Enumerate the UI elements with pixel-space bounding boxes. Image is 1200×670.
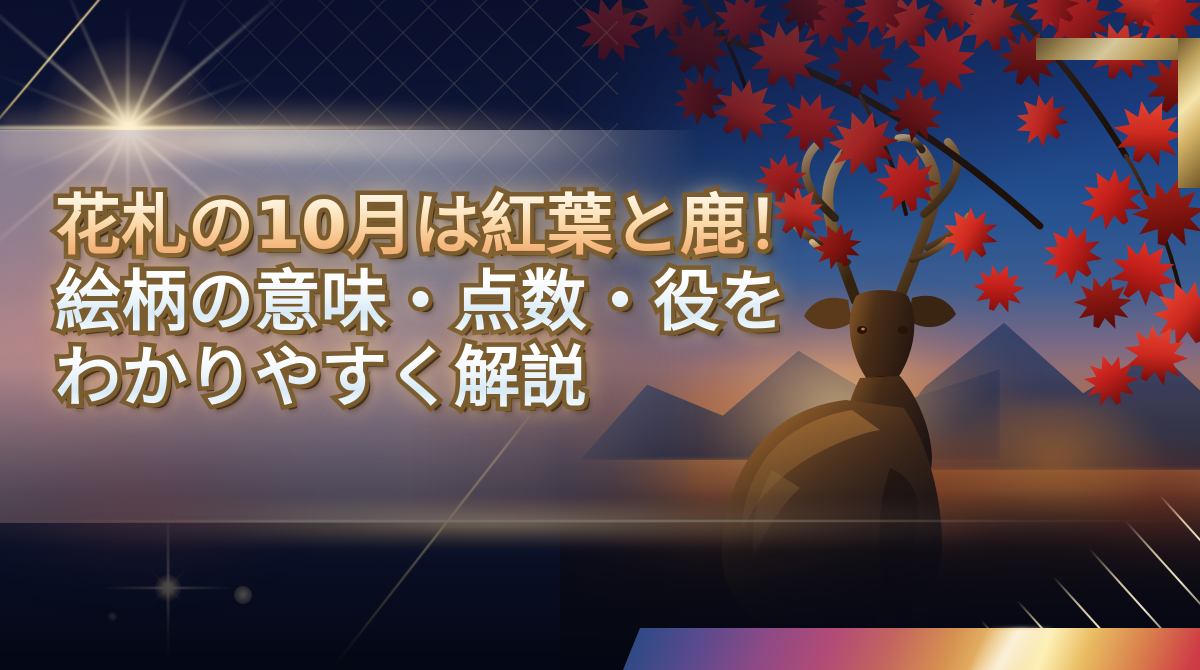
- thumbnail-banner: 花札の10月は紅葉と鹿！ 花札の10月は紅葉と鹿！ 花札の10月は紅葉と鹿！ 絵…: [0, 0, 1200, 670]
- headline: 花札の10月は紅葉と鹿！ 花札の10月は紅葉と鹿！ 花札の10月は紅葉と鹿！ 絵…: [55, 188, 895, 416]
- headline-line-3: わかりやすく解説 わかりやすく解説 わかりやすく解説: [55, 340, 895, 416]
- headline-line-3-text: わかりやすく解説: [55, 339, 587, 416]
- headline-line-2: 絵柄の意味・点数・役を 絵柄の意味・点数・役を 絵柄の意味・点数・役を: [55, 264, 895, 340]
- headline-line-1: 花札の10月は紅葉と鹿！ 花札の10月は紅葉と鹿！ 花札の10月は紅葉と鹿！: [55, 188, 895, 264]
- headline-line-2-text: 絵柄の意味・点数・役を: [55, 263, 787, 340]
- bottom-gradient-banner: [619, 628, 1200, 670]
- headline-line-1-text: 花札の10月は紅葉と鹿！: [55, 187, 813, 264]
